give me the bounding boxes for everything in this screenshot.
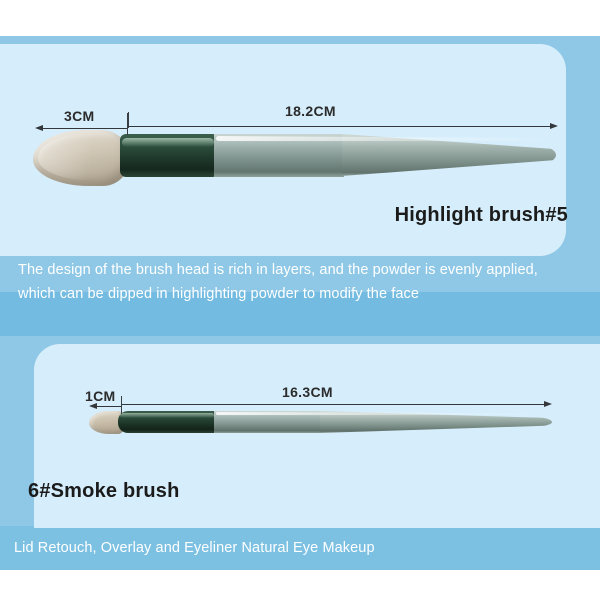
length-measure-label-2: 16.3CM bbox=[282, 384, 333, 400]
head-measure-label-2: 1CM bbox=[85, 388, 115, 404]
head-dimension-line-2 bbox=[96, 406, 122, 407]
length-dimension-arrow-right-1 bbox=[550, 123, 558, 129]
head-dimension-tick-2 bbox=[121, 396, 122, 414]
highlight-brush-ferrule-gloss bbox=[122, 138, 214, 147]
highlight-brush-name: Highlight brush#5 bbox=[395, 204, 568, 227]
length-dimension-line-1 bbox=[128, 126, 552, 127]
description-line-1: The design of the brush head is rich in … bbox=[18, 258, 588, 282]
head-dimension-arrow-left-1 bbox=[35, 125, 43, 131]
length-dimension-line-2 bbox=[122, 404, 546, 405]
smoke-brush-name: 6#Smoke brush bbox=[28, 480, 180, 503]
length-dimension-tick-1 bbox=[128, 112, 129, 128]
highlight-brush-description: The design of the brush head is rich in … bbox=[18, 258, 588, 306]
product-image: 3CM 18.2CM Highlight brush#5 The design … bbox=[0, 0, 600, 600]
description-line-2: which can be dipped in highlighting powd… bbox=[18, 282, 588, 306]
length-measure-label-1: 18.2CM bbox=[285, 103, 336, 119]
length-dimension-arrow-right-2 bbox=[544, 401, 552, 407]
smoke-brush-caption: Lid Retouch, Overlay and Eyeliner Natura… bbox=[14, 536, 584, 560]
head-measure-label-1: 3CM bbox=[64, 108, 94, 124]
highlight-brush-bristle-highlight bbox=[38, 134, 126, 180]
smoke-brush-ferrule-gloss bbox=[120, 413, 214, 418]
head-dimension-line-1 bbox=[42, 128, 128, 129]
